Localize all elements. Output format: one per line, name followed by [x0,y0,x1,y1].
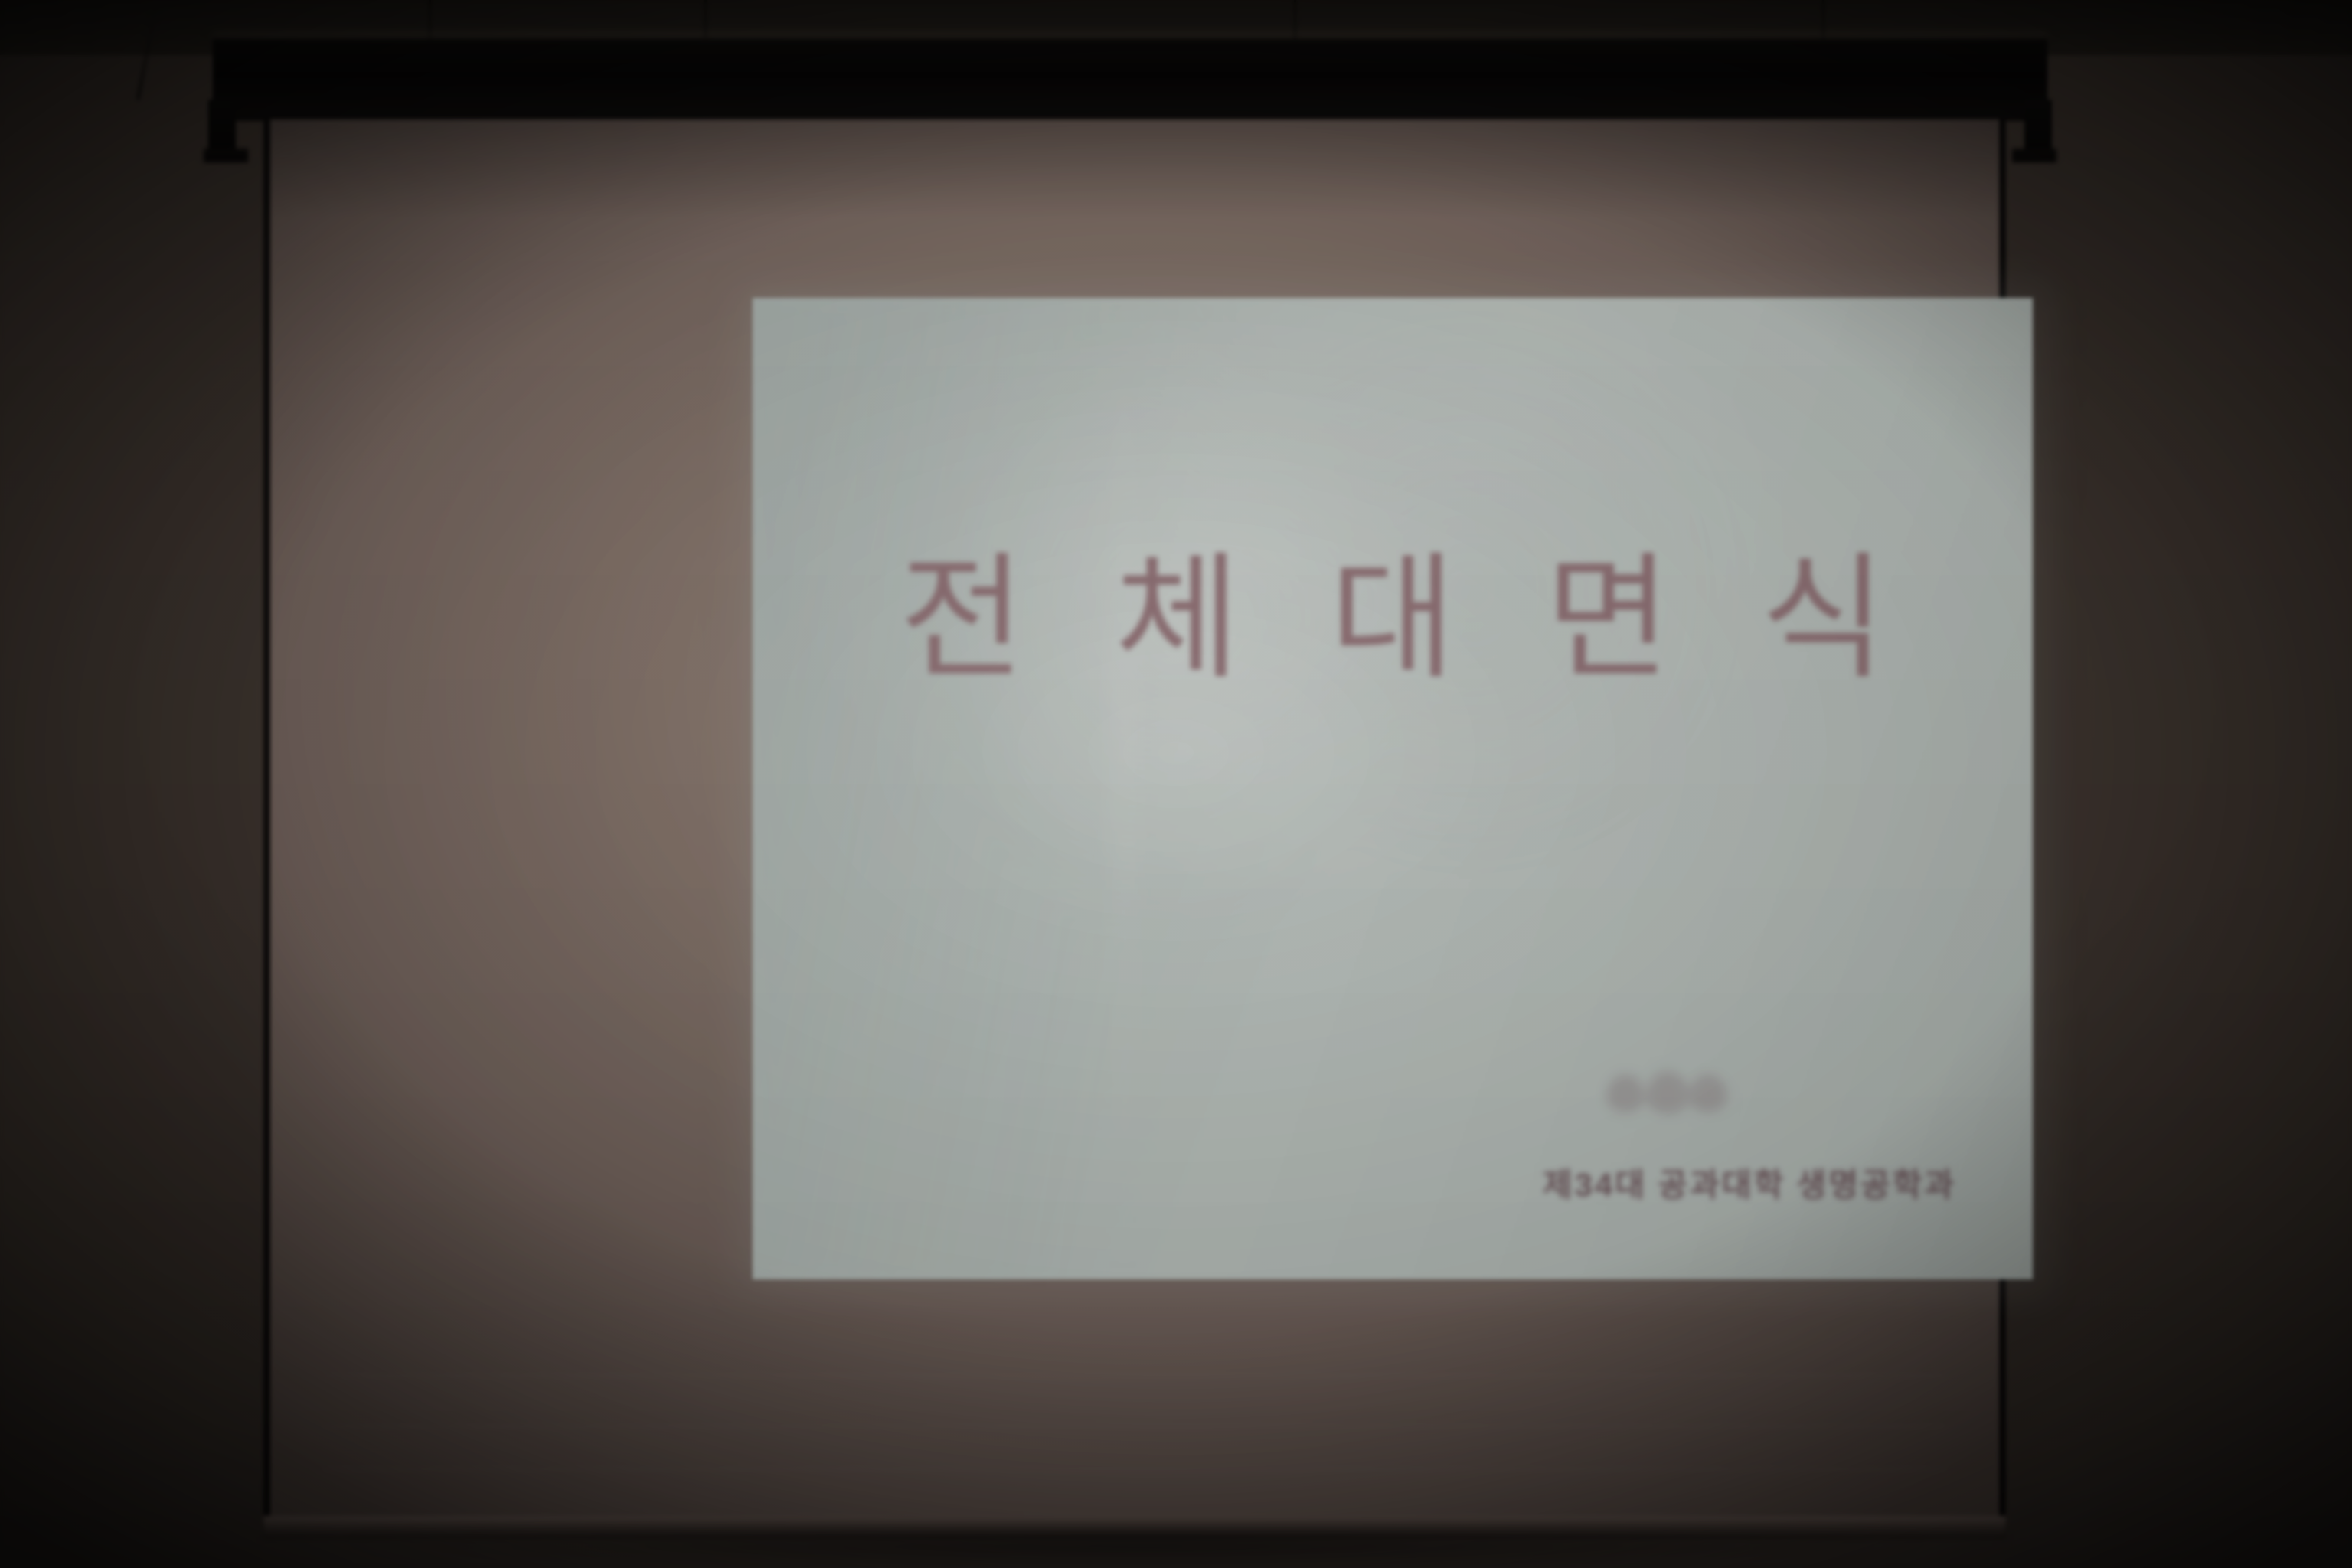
left-mount-foot [204,149,248,162]
fabric-crease [325,1468,1945,1470]
screenshot-root: 전 체 대 면 식 제34대 공과대학 생명공학과 [0,0,2352,1568]
flower-petal [1606,1074,1645,1112]
screen-drop-shadow [248,1536,2024,1568]
screen-housing-bar [213,38,2047,121]
right-mount-foot [2012,149,2056,162]
flower-emblem [1606,1071,1721,1114]
background-streak [1111,298,1136,1279]
fabric-crease [325,1426,1945,1427]
background-watermark [753,298,2033,1279]
fabric-crease [325,1375,1945,1377]
slide-title: 전 체 대 면 식 [753,550,2033,687]
screen-left-rail [263,119,270,1536]
slide-subtitle: 제34대 공과대학 생명공학과 [753,1159,2033,1206]
flower-petal [1646,1071,1689,1114]
projector-screen[interactable]: 전 체 대 면 식 제34대 공과대학 생명공학과 [213,34,2047,1557]
projected-slide: 전 체 대 면 식 제34대 공과대학 생명공학과 [753,298,2033,1279]
